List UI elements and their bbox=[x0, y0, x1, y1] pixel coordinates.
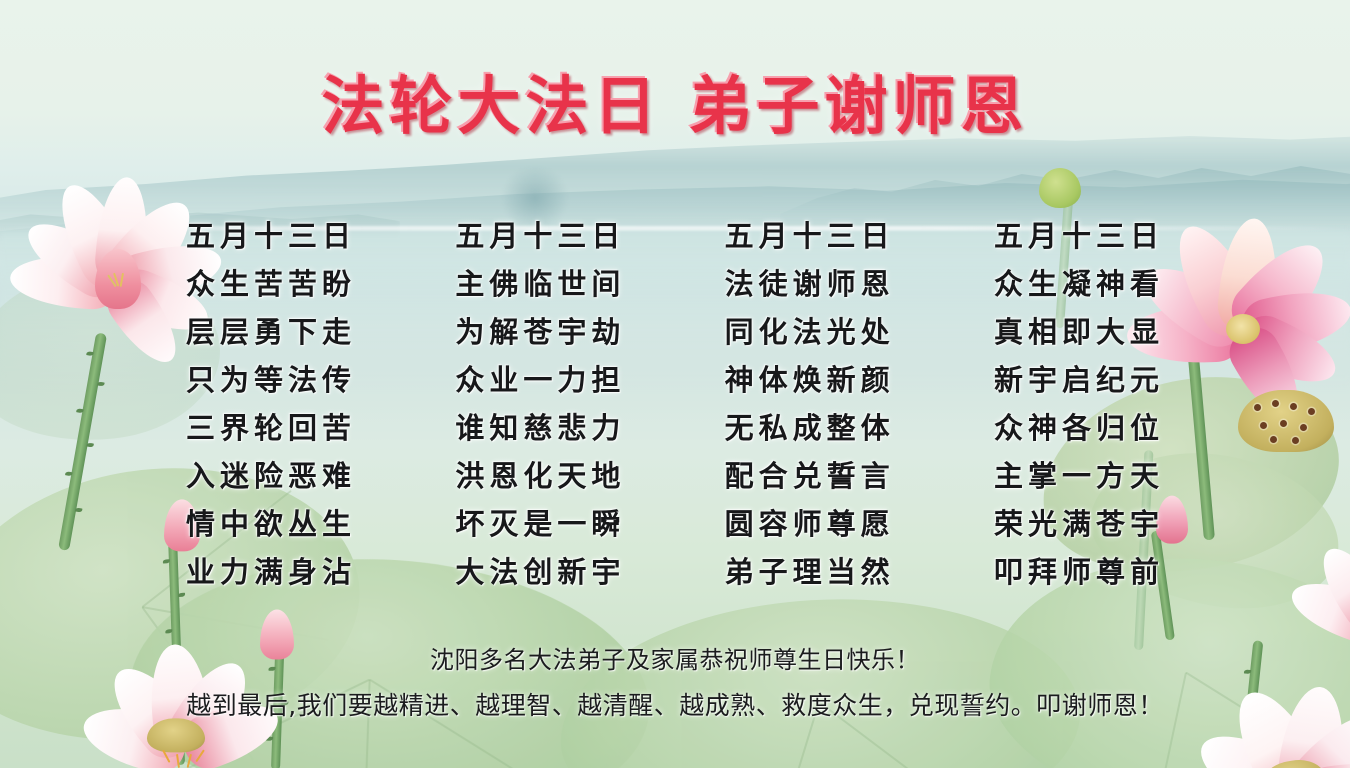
footer-block: 沈阳多名大法弟子及家属恭祝师尊生日快乐！ 越到最后,我们要越精进、越理智、越清醒… bbox=[0, 640, 1350, 722]
poem-line: 弟子理当然 bbox=[725, 548, 895, 596]
text-content-layer: 法轮大法日 弟子谢师恩 五月十三日 众生苦苦盼 层层勇下走 只为等法传 三界轮回… bbox=[0, 0, 1350, 768]
poem-line: 众神各归位 bbox=[994, 404, 1164, 452]
poem-line: 真相即大显 bbox=[994, 308, 1164, 356]
poem-line: 新宇启纪元 bbox=[994, 356, 1164, 404]
poem-column-3: 五月十三日 法徒谢师恩 同化法光处 神体焕新颜 无私成整体 配合兑誓言 圆容师尊… bbox=[725, 212, 895, 596]
poem-line: 情中欲丛生 bbox=[186, 500, 356, 548]
poem-line: 入迷险恶难 bbox=[186, 452, 356, 500]
poem-line: 洪恩化天地 bbox=[455, 452, 625, 500]
poem-column-4: 五月十三日 众生凝神看 真相即大显 新宇启纪元 众神各归位 主掌一方天 荣光满苍… bbox=[994, 212, 1164, 596]
poem-line: 配合兑誓言 bbox=[725, 452, 895, 500]
poem-line: 无私成整体 bbox=[725, 404, 895, 452]
poem-line: 只为等法传 bbox=[186, 356, 356, 404]
poem-line: 众生苦苦盼 bbox=[186, 260, 356, 308]
page-title: 法轮大法日 弟子谢师恩 bbox=[0, 56, 1350, 147]
poem-line: 众业一力担 bbox=[455, 356, 625, 404]
greeting-line: 沈阳多名大法弟子及家属恭祝师尊生日快乐！ bbox=[0, 640, 1350, 675]
poem-line: 法徒谢师恩 bbox=[725, 260, 895, 308]
poem-line: 大法创新宇 bbox=[455, 548, 625, 596]
poem-line: 五月十三日 bbox=[994, 212, 1164, 260]
poem-line: 层层勇下走 bbox=[186, 308, 356, 356]
poem-line: 坏灭是一瞬 bbox=[455, 500, 625, 548]
poem-line: 五月十三日 bbox=[455, 212, 625, 260]
poem-line: 叩拜师尊前 bbox=[994, 548, 1164, 596]
poem-line: 荣光满苍宇 bbox=[994, 500, 1164, 548]
poem-line: 五月十三日 bbox=[725, 212, 895, 260]
poem-line: 主佛临世间 bbox=[455, 260, 625, 308]
poem-block: 五月十三日 众生苦苦盼 层层勇下走 只为等法传 三界轮回苦 入迷险恶难 情中欲丛… bbox=[186, 212, 1164, 596]
poem-line: 五月十三日 bbox=[186, 212, 356, 260]
vow-line: 越到最后,我们要越精进、越理智、越清醒、越成熟、救度众生，兑现誓约。叩谢师恩！ bbox=[0, 686, 1350, 722]
poem-line: 谁知慈悲力 bbox=[455, 404, 625, 452]
poem-line: 同化法光处 bbox=[725, 308, 895, 356]
poem-line: 为解苍宇劫 bbox=[455, 308, 625, 356]
poster-canvas: 法轮大法日 弟子谢师恩 五月十三日 众生苦苦盼 层层勇下走 只为等法传 三界轮回… bbox=[0, 0, 1350, 768]
poem-column-1: 五月十三日 众生苦苦盼 层层勇下走 只为等法传 三界轮回苦 入迷险恶难 情中欲丛… bbox=[186, 212, 356, 596]
poem-line: 众生凝神看 bbox=[994, 260, 1164, 308]
poem-line: 三界轮回苦 bbox=[186, 404, 356, 452]
poem-column-2: 五月十三日 主佛临世间 为解苍宇劫 众业一力担 谁知慈悲力 洪恩化天地 坏灭是一… bbox=[455, 212, 625, 596]
poem-line: 神体焕新颜 bbox=[725, 356, 895, 404]
poem-line: 主掌一方天 bbox=[994, 452, 1164, 500]
poem-line: 业力满身沾 bbox=[186, 548, 356, 596]
poem-line: 圆容师尊愿 bbox=[725, 500, 895, 548]
